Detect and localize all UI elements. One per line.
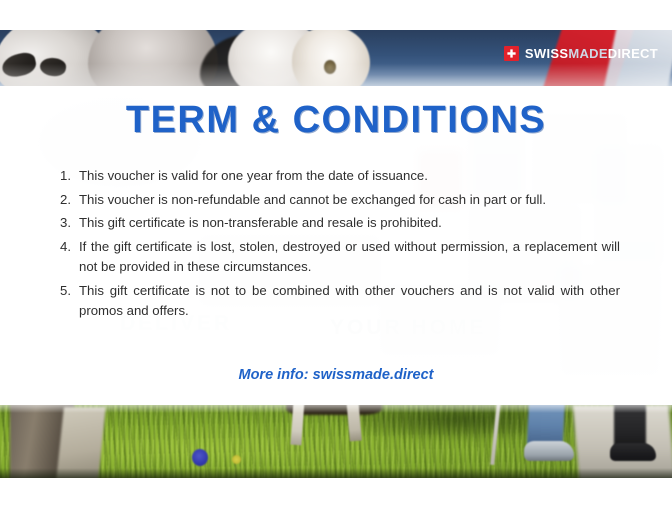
voucher-terms-slide: SWISSMADEDIRECT DELIVER YOUR HOME TERM &… bbox=[0, 0, 672, 510]
page-title: TERM & CONDITIONS bbox=[0, 98, 672, 142]
list-item-number: 1. bbox=[60, 166, 76, 187]
brand-logo: SWISSMADEDIRECT bbox=[504, 46, 658, 61]
list-item: 4. If the gift certificate is lost, stol… bbox=[60, 237, 620, 278]
list-item: 5. This gift certificate is not to be co… bbox=[60, 281, 620, 322]
bottom-photo-band bbox=[0, 405, 672, 478]
list-item-text: If the gift certificate is lost, stolen,… bbox=[79, 237, 620, 278]
walker-dark-shoe bbox=[610, 443, 656, 461]
band-bottom-shade bbox=[0, 468, 672, 478]
list-item: 2. This voucher is non-refundable and ca… bbox=[60, 190, 620, 211]
list-item-number: 4. bbox=[60, 237, 76, 258]
walker-shoe bbox=[524, 441, 574, 461]
list-item-text: This gift certificate is non-transferabl… bbox=[79, 213, 620, 234]
terms-list: 1. This voucher is valid for one year fr… bbox=[60, 166, 620, 325]
swiss-cross-icon bbox=[504, 46, 519, 61]
list-item: 3. This gift certificate is non-transfer… bbox=[60, 213, 620, 234]
list-item-number: 5. bbox=[60, 281, 76, 302]
list-item-number: 2. bbox=[60, 190, 76, 211]
brand-name-part3: DIRECT bbox=[608, 46, 658, 61]
band-top-fade bbox=[0, 405, 672, 413]
list-item: 1. This voucher is valid for one year fr… bbox=[60, 166, 620, 187]
list-item-text: This gift certificate is not to be combi… bbox=[79, 281, 620, 322]
yellow-flower bbox=[232, 455, 241, 464]
brand-name-part1: SWISS bbox=[525, 46, 568, 61]
list-item-text: This voucher is non-refundable and canno… bbox=[79, 190, 620, 211]
more-info-link[interactable]: More info: swissmade.direct bbox=[0, 367, 672, 383]
brand-name: SWISSMADEDIRECT bbox=[525, 46, 658, 61]
terms-content-panel: DELIVER YOUR HOME TERM & CONDITIONS 1. T… bbox=[0, 86, 672, 405]
blue-flower bbox=[192, 449, 208, 466]
list-item-text: This voucher is valid for one year from … bbox=[79, 166, 620, 187]
list-item-number: 3. bbox=[60, 213, 76, 234]
brand-name-part2: MADE bbox=[568, 46, 607, 61]
